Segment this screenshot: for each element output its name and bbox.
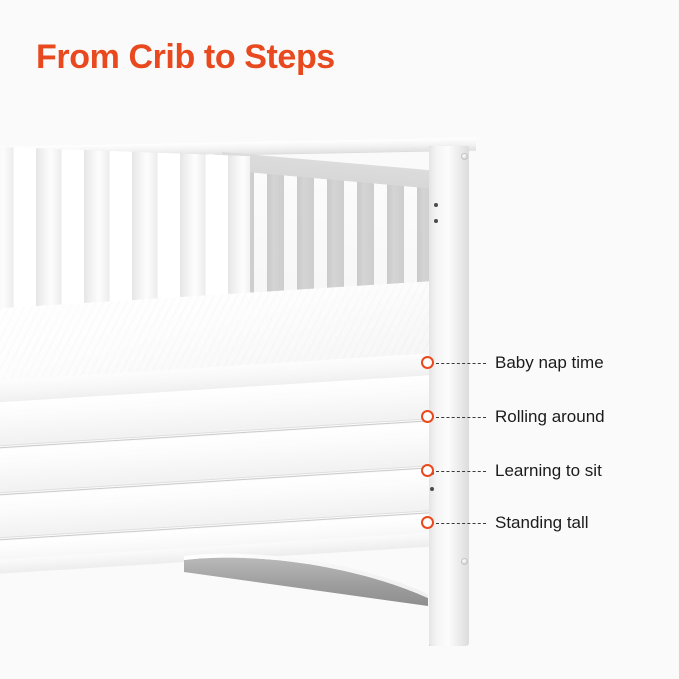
page-title: From Crib to Steps <box>36 38 335 77</box>
callout-label-position-1: Baby nap time <box>495 353 604 373</box>
arched-support-rail <box>182 542 432 606</box>
callout-leader-position-4 <box>436 523 486 524</box>
post-screw-top <box>461 153 468 160</box>
product-photo <box>0 130 500 679</box>
post-hardware-dot-4 <box>430 487 434 491</box>
callout-label-position-4: Standing tall <box>495 513 589 533</box>
callout-leader-position-1 <box>436 363 486 364</box>
callout-marker-position-1[interactable] <box>421 356 434 369</box>
callout-label-position-2: Rolling around <box>495 407 605 427</box>
post-hardware-dot-2 <box>434 219 438 223</box>
post-screw-bottom <box>461 558 468 565</box>
post-hardware-dot-1 <box>434 203 438 207</box>
infographic-canvas: From Crib to Steps <box>0 0 679 679</box>
callout-leader-position-3 <box>436 471 486 472</box>
callout-marker-position-4[interactable] <box>421 516 434 529</box>
callout-leader-position-2 <box>436 417 486 418</box>
callout-label-position-3: Learning to sit <box>495 461 602 481</box>
callout-marker-position-2[interactable] <box>421 410 434 423</box>
callout-marker-position-3[interactable] <box>421 464 434 477</box>
